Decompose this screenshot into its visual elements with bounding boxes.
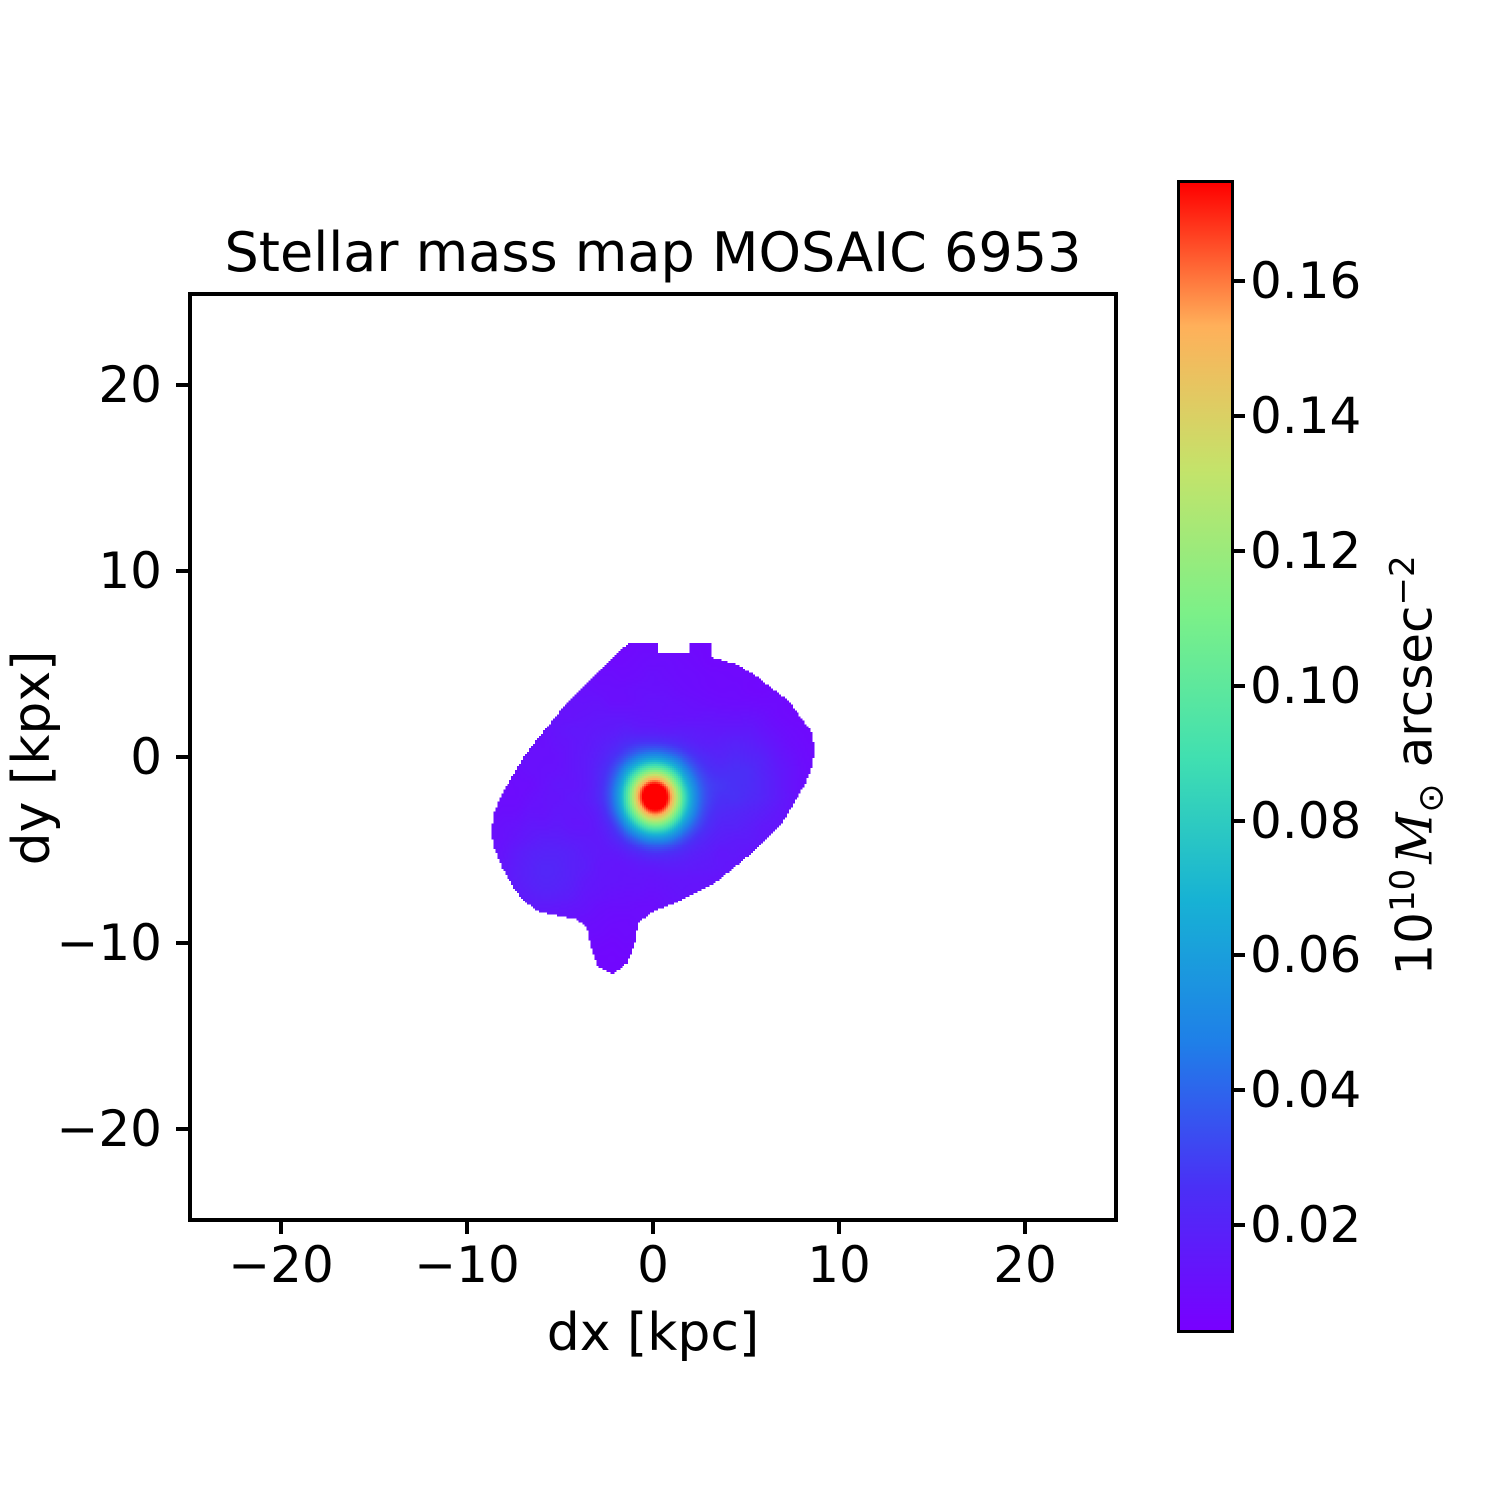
- colorbar-tick-mark: [1234, 684, 1245, 688]
- y-tick-mark: [176, 569, 188, 573]
- colorbar-label-arcsec-exponent: −2: [1383, 555, 1423, 605]
- y-tick-mark: [176, 1127, 188, 1131]
- colorbar-tick-label: 0.14: [1250, 387, 1361, 445]
- colorbar-tick-label: 0.16: [1250, 252, 1361, 310]
- x-tick-label: −20: [181, 1236, 381, 1294]
- colorbar-tick-mark: [1234, 1223, 1245, 1227]
- y-tick-mark: [176, 755, 188, 759]
- colorbar-label-sun-symbol: ⊙: [1412, 783, 1452, 812]
- x-tick-label: 0: [553, 1236, 753, 1294]
- colorbar-tick-mark: [1234, 953, 1245, 957]
- figure-canvas: Stellar mass map MOSAIC 6953 −20−1001020…: [0, 0, 1500, 1500]
- x-tick-mark: [465, 1222, 469, 1234]
- x-tick-mark: [651, 1222, 655, 1234]
- colorbar-tick-mark: [1234, 549, 1245, 553]
- colorbar-tick-label: 0.04: [1250, 1061, 1361, 1119]
- colorbar-tick-label: 0.12: [1250, 522, 1361, 580]
- colorbar-tick-label: 0.06: [1250, 926, 1361, 984]
- colorbar-label-exponent: 10: [1383, 869, 1423, 912]
- colorbar-tick-mark: [1234, 414, 1245, 418]
- x-tick-mark: [837, 1222, 841, 1234]
- colorbar-label-msun: M: [1386, 813, 1444, 864]
- x-tick-label: 10: [739, 1236, 939, 1294]
- colorbar-tick-label: 0.02: [1250, 1196, 1361, 1254]
- plot-axes: [188, 292, 1118, 1222]
- x-tick-mark: [1023, 1222, 1027, 1234]
- y-tick-mark: [176, 383, 188, 387]
- colorbar-gradient: [1177, 180, 1234, 1333]
- colorbar: [1177, 180, 1234, 1333]
- page-title: Stellar mass map MOSAIC 6953: [188, 222, 1118, 284]
- colorbar-tick-label: 0.10: [1250, 657, 1361, 715]
- stellar-mass-heatmap: [192, 296, 1114, 1218]
- x-axis-label: dx [kpc]: [188, 1302, 1118, 1364]
- colorbar-tick-mark: [1234, 1088, 1245, 1092]
- colorbar-axis-label: 1010 M⊙ arcsec−2: [1385, 301, 1462, 1231]
- colorbar-label-arcsec: arcsec: [1386, 605, 1444, 783]
- colorbar-tick-label: 0.08: [1250, 792, 1361, 850]
- colorbar-tick-mark: [1234, 279, 1245, 283]
- colorbar-label-base: 10: [1386, 912, 1444, 976]
- x-tick-label: −10: [367, 1236, 567, 1294]
- y-tick-mark: [176, 941, 188, 945]
- y-axis-label: dy [kpx]: [1, 293, 63, 1223]
- x-tick-mark: [279, 1222, 283, 1234]
- colorbar-tick-mark: [1234, 819, 1245, 823]
- x-tick-label: 20: [925, 1236, 1125, 1294]
